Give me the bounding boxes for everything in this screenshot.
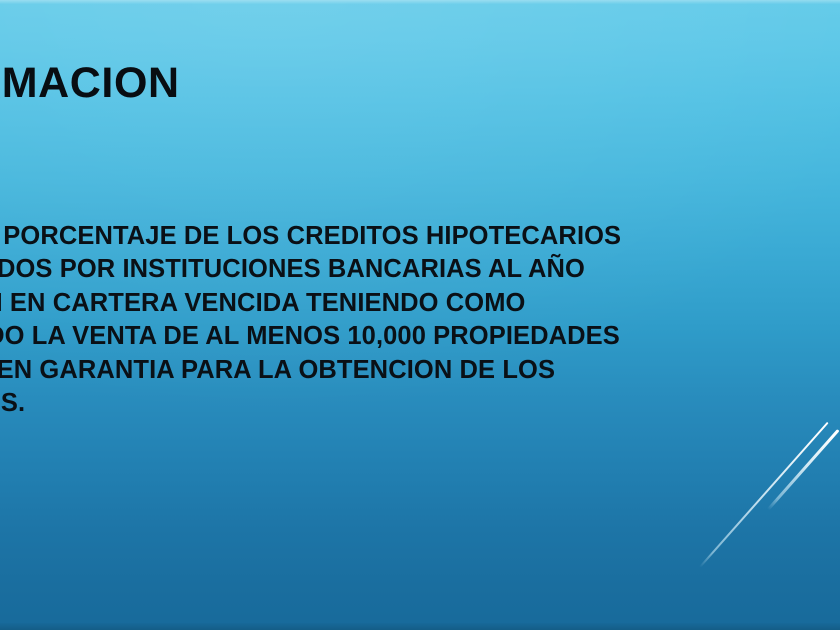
diagonal-streak-icon-short xyxy=(767,429,839,510)
presentation-slide: ORMACION LTO PORCENTAJE DE LOS CREDITOS … xyxy=(0,0,840,630)
slide-top-edge xyxy=(0,0,840,4)
slide-body-text: LTO PORCENTAJE DE LOS CREDITOS HIPOTECAR… xyxy=(0,220,840,420)
diagonal-streak-icon-long xyxy=(699,422,829,568)
slide-title: ORMACION xyxy=(0,57,696,109)
slide-bottom-edge xyxy=(0,623,840,630)
